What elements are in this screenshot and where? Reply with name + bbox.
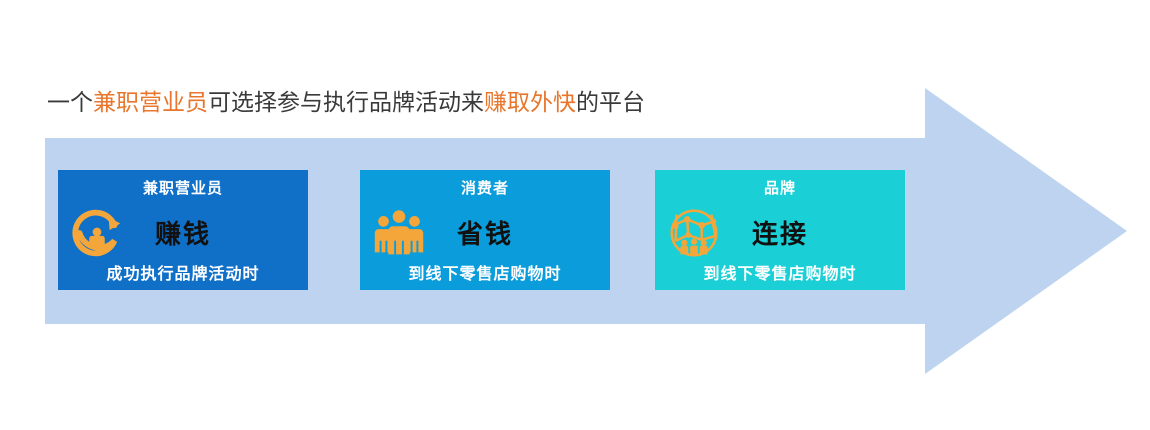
card-main-label: 赚钱 — [58, 214, 308, 251]
card-brand[interactable]: 品牌 连接 到线下零售店购物时 — [655, 170, 905, 290]
page-title: 一个兼职营业员可选择参与执行品牌活动来赚取外快的平台 — [47, 88, 645, 118]
title-segment-3: 赚取外快 — [484, 90, 576, 116]
title-segment-1: 兼职营业员 — [93, 90, 208, 116]
diagram-canvas: 一个兼职营业员可选择参与执行品牌活动来赚取外快的平台 兼职营业员 赚钱 成功执行… — [0, 0, 1150, 430]
card-header-label: 兼职营业员 — [58, 177, 308, 198]
card-part-time-promoter[interactable]: 兼职营业员 赚钱 成功执行品牌活动时 — [58, 170, 308, 290]
card-header-label: 消费者 — [360, 177, 610, 198]
card-main-label: 省钱 — [360, 214, 610, 251]
title-segment-2: 可选择参与执行品牌活动来 — [208, 90, 484, 116]
card-footer-label: 到线下零售店购物时 — [360, 260, 610, 284]
card-footer-label: 到线下零售店购物时 — [655, 260, 905, 284]
title-segment-0: 一个 — [47, 90, 93, 116]
card-footer-label: 成功执行品牌活动时 — [58, 260, 308, 284]
card-consumer[interactable]: 消费者 省钱 到线下零售店购物时 — [360, 170, 610, 290]
title-segment-4: 的平台 — [576, 90, 645, 116]
card-header-label: 品牌 — [655, 177, 905, 198]
card-main-label: 连接 — [655, 214, 905, 251]
